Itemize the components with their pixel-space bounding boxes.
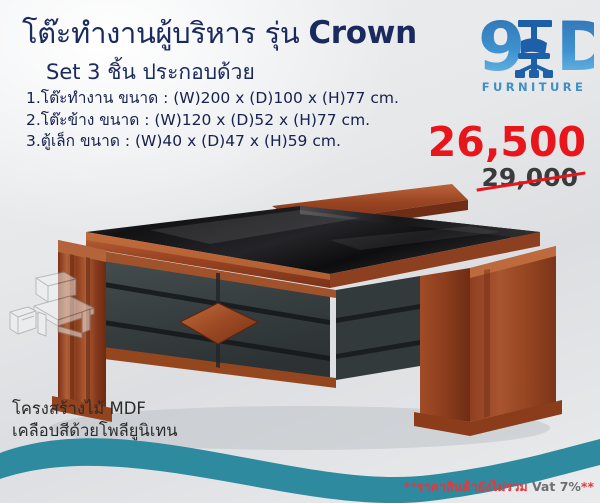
desk-set-line-sketch — [6, 262, 98, 348]
logo-letter-d: D — [556, 8, 594, 87]
spec-list: 1.โต๊ะทำงาน ขนาด : (W)200 x (D)100 x (H)… — [26, 88, 399, 153]
vat-suffix: ** — [581, 479, 594, 494]
spec-item-1: 1.โต๊ะทำงาน ขนาด : (W)200 x (D)100 x (H)… — [26, 88, 399, 110]
logo-wordmark: FURNITURE — [474, 80, 594, 94]
price-current: 26,500 — [428, 122, 586, 163]
desk-right-panel — [336, 276, 420, 380]
vat-prefix: **ราคาสินค้ายังไม่รวม — [404, 479, 532, 494]
title-model-text: Crown — [308, 15, 417, 51]
page-title: โต๊ะทำงานผู้บริหาร รุ่น Crown — [22, 18, 417, 49]
vat-note: **ราคาสินค้ายังไม่รวม Vat 7%** — [404, 477, 594, 497]
desk-right-pedestal — [414, 246, 562, 436]
spec-item-3: 3.ตู้เล็ก ขนาด : (W)40 x (D)47 x (H)59 c… — [26, 131, 399, 153]
title-main-text: โต๊ะทำงานผู้บริหาร รุ่น — [22, 16, 308, 50]
spec-item-2: 2.โต๊ะข้าง ขนาด : (W)120 x (D)52 x (H)77… — [26, 110, 399, 132]
vat-value: Vat 7% — [532, 479, 581, 494]
advertisement-canvas: โต๊ะทำงานผู้บริหาร รุ่น Crown Set 3 ชิ้น… — [0, 0, 600, 503]
subtitle: Set 3 ชิ้น ประกอบด้วย — [46, 56, 255, 89]
